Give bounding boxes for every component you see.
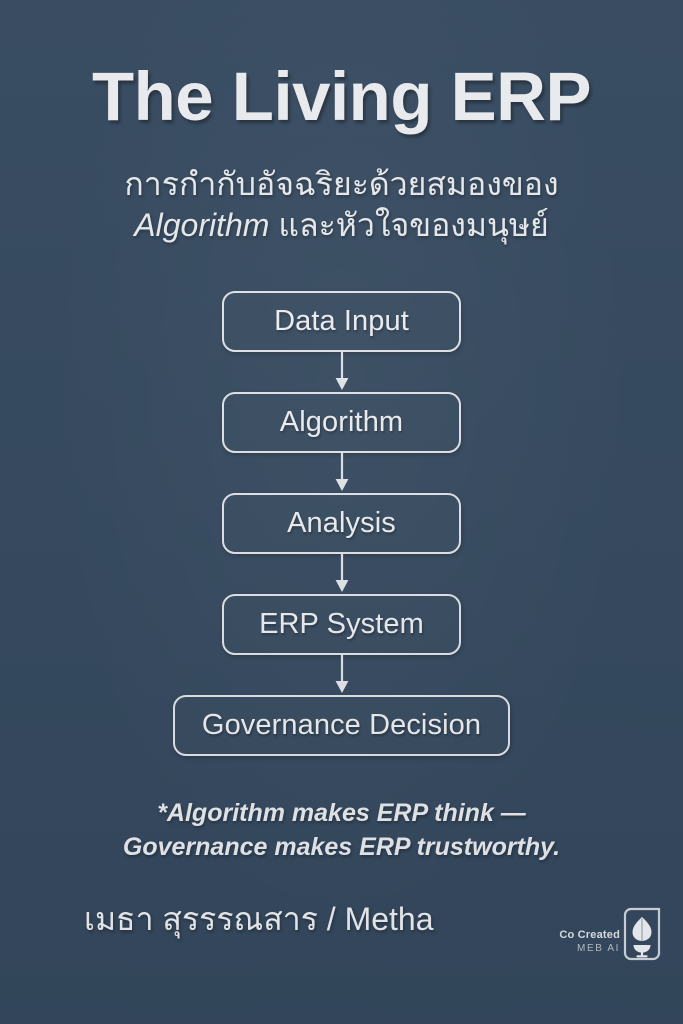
- credit-line-co-created: Co Created: [559, 929, 620, 943]
- subtitle-line-1: การกำกับอัจฉริยะด้วยสมองของ: [0, 164, 683, 205]
- credit-block: Co Created MEB AI: [559, 929, 620, 955]
- flow-node-label: Algorithm: [254, 406, 429, 439]
- flowchart: Data InputAlgorithmAnalysisERP SystemGov…: [0, 291, 683, 756]
- tagline-block: *Algorithm makes ERP think — Governance …: [0, 796, 683, 864]
- flow-node-label: Data Input: [248, 305, 435, 338]
- tagline-line-2: Governance makes ERP trustworthy.: [0, 830, 683, 864]
- flow-node[interactable]: Governance Decision: [173, 695, 510, 756]
- leaf-goblet-icon: [621, 906, 663, 962]
- flow-node-label: Analysis: [261, 507, 422, 540]
- flow-connector-arrow: [332, 453, 352, 493]
- subtitle-italic-word: Algorithm: [134, 207, 269, 243]
- subtitle-line-2: Algorithm และหัวใจของมนุษย์: [0, 205, 683, 246]
- flow-node[interactable]: ERP System: [222, 594, 461, 655]
- tagline-line-1: *Algorithm makes ERP think —: [0, 796, 683, 830]
- flow-connector-arrow: [332, 352, 352, 392]
- flow-node[interactable]: Analysis: [222, 493, 461, 554]
- flow-node-label: Governance Decision: [176, 709, 507, 742]
- flow-connector-arrow: [332, 554, 352, 594]
- title-block: The Living ERP: [0, 62, 683, 132]
- subtitle-block: การกำกับอัจฉริยะด้วยสมองของ Algorithm แล…: [0, 164, 683, 246]
- flow-connector-arrow: [332, 655, 352, 695]
- page-title: The Living ERP: [0, 62, 683, 132]
- footer: เมธา สุรรรณสาร / Metha Co Created MEB AI: [0, 888, 683, 984]
- credit-line-meb-ai: MEB AI: [559, 943, 620, 956]
- flow-node[interactable]: Algorithm: [222, 392, 461, 453]
- poster-canvas: The Living ERP การกำกับอัจฉริยะด้วยสมองข…: [0, 0, 683, 1024]
- subtitle-line-2-rest: และหัวใจของมนุษย์: [269, 207, 548, 243]
- flow-node-label: ERP System: [233, 608, 450, 641]
- author-name: เมธา สุรรรณสาร / Metha: [84, 894, 434, 945]
- flow-node[interactable]: Data Input: [222, 291, 461, 352]
